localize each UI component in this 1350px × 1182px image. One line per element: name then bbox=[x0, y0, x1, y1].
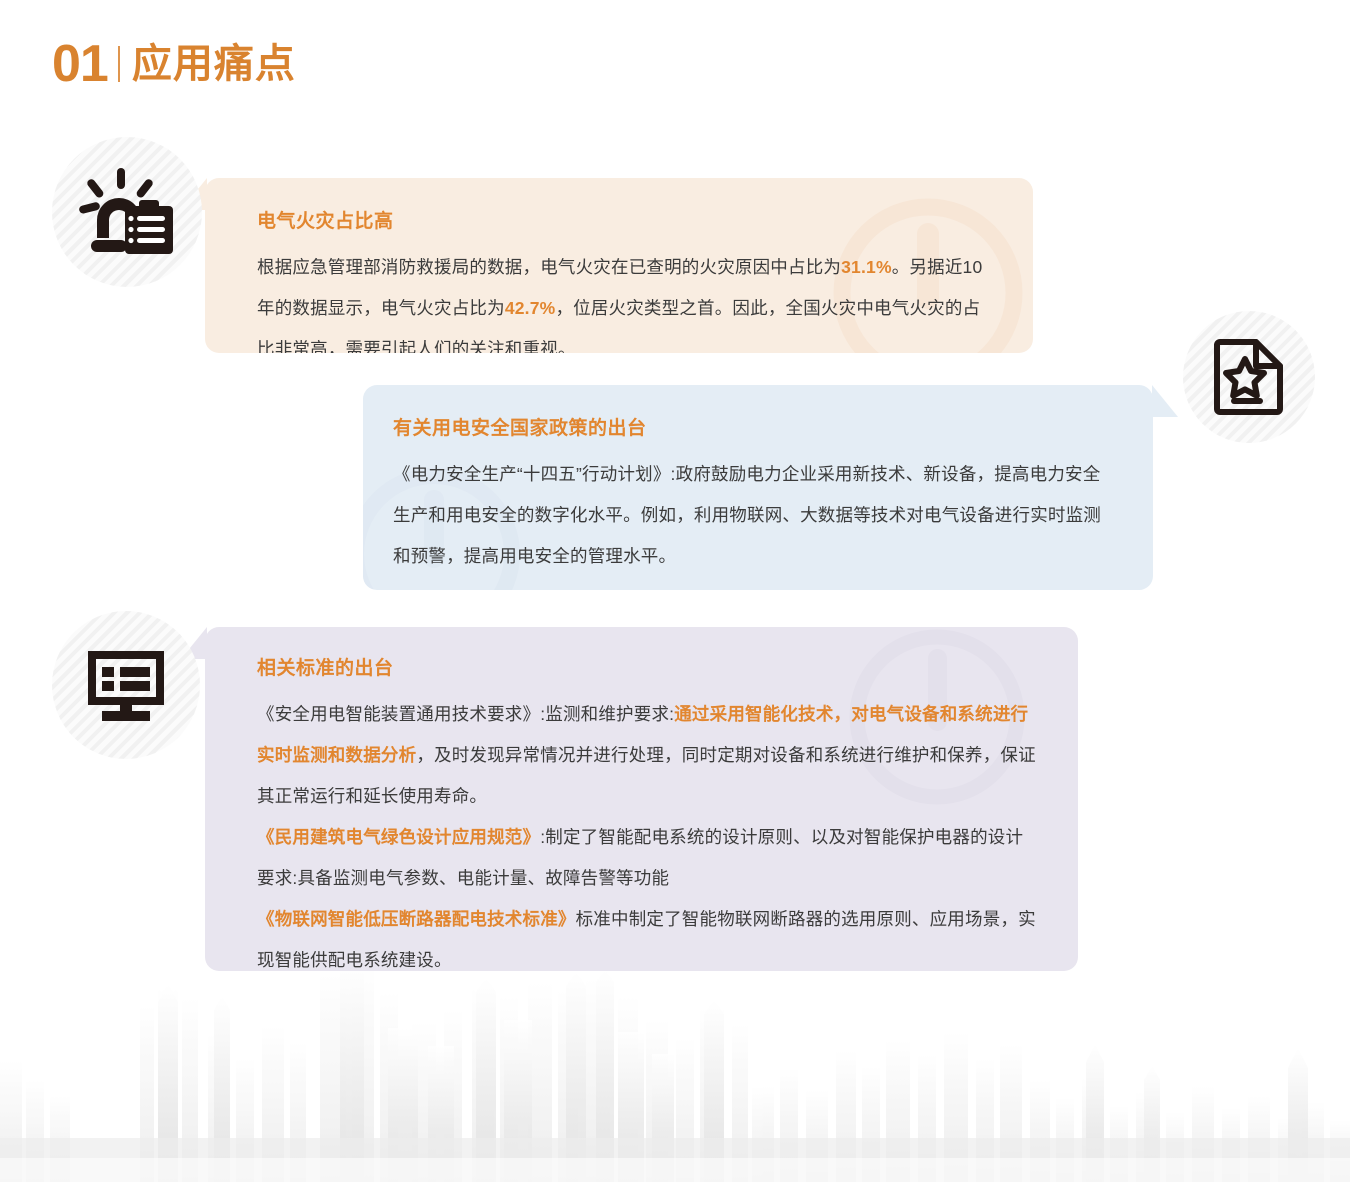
card-2-tail bbox=[1152, 385, 1178, 417]
card-1-highlight-1: 31.1% bbox=[841, 257, 892, 277]
certificate-star-document-icon-badge bbox=[1183, 311, 1315, 443]
card-national-policy: 有关用电安全国家政策的出台 《电力安全生产“十四五”行动计划》:政府鼓励电力企业… bbox=[363, 385, 1153, 590]
section-number: 01 bbox=[52, 38, 108, 90]
card-2-title: 有关用电安全国家政策的出台 bbox=[393, 413, 1115, 440]
card-1-body: 根据应急管理部消防救援局的数据，电气火灾在已查明的火灾原因中占比为31.1%。另… bbox=[257, 247, 995, 353]
card-3-text-0: 《安全用电智能装置通用技术要求》:监测和维护要求: bbox=[257, 704, 674, 724]
card-3-highlight-7: 《物联网智能低压断路器配电技术标准》 bbox=[257, 909, 576, 929]
page-title: 应用痛点 bbox=[132, 44, 296, 84]
card-3-highlight-4: 《民用建筑电气绿色设计应用规范》 bbox=[257, 827, 540, 847]
monitor-display-icon bbox=[84, 647, 168, 723]
alarm-clipboard-icon-badge bbox=[52, 137, 202, 287]
card-2-text-0: 《电力安全生产“十四五”行动计划》:政府鼓励电力企业采用新技术、新设备，提高电力… bbox=[393, 464, 1101, 566]
card-3-body: 《安全用电智能装置通用技术要求》:监测和维护要求:通过采用智能化技术，对电气设备… bbox=[257, 694, 1040, 971]
card-3-title: 相关标准的出台 bbox=[257, 653, 1040, 680]
monitor-display-icon-badge bbox=[52, 611, 200, 759]
certificate-star-document-icon bbox=[1212, 337, 1286, 417]
card-1-highlight-3: 42.7% bbox=[505, 298, 556, 318]
alarm-clipboard-icon bbox=[79, 166, 175, 258]
card-electrical-fire-ratio: 电气火灾占比高 根据应急管理部消防救援局的数据，电气火灾在已查明的火灾原因中占比… bbox=[205, 178, 1033, 353]
card-1-title: 电气火灾占比高 bbox=[257, 206, 995, 233]
cityscape-background bbox=[0, 962, 1350, 1182]
card-1-text-0: 根据应急管理部消防救援局的数据，电气火灾在已查明的火灾原因中占比为 bbox=[257, 257, 841, 277]
header-divider bbox=[118, 46, 120, 82]
card-related-standards: 相关标准的出台 《安全用电智能装置通用技术要求》:监测和维护要求:通过采用智能化… bbox=[205, 627, 1078, 971]
card-2-body: 《电力安全生产“十四五”行动计划》:政府鼓励电力企业采用新技术、新设备，提高电力… bbox=[393, 454, 1115, 577]
page-header: 01 应用痛点 bbox=[52, 38, 296, 90]
